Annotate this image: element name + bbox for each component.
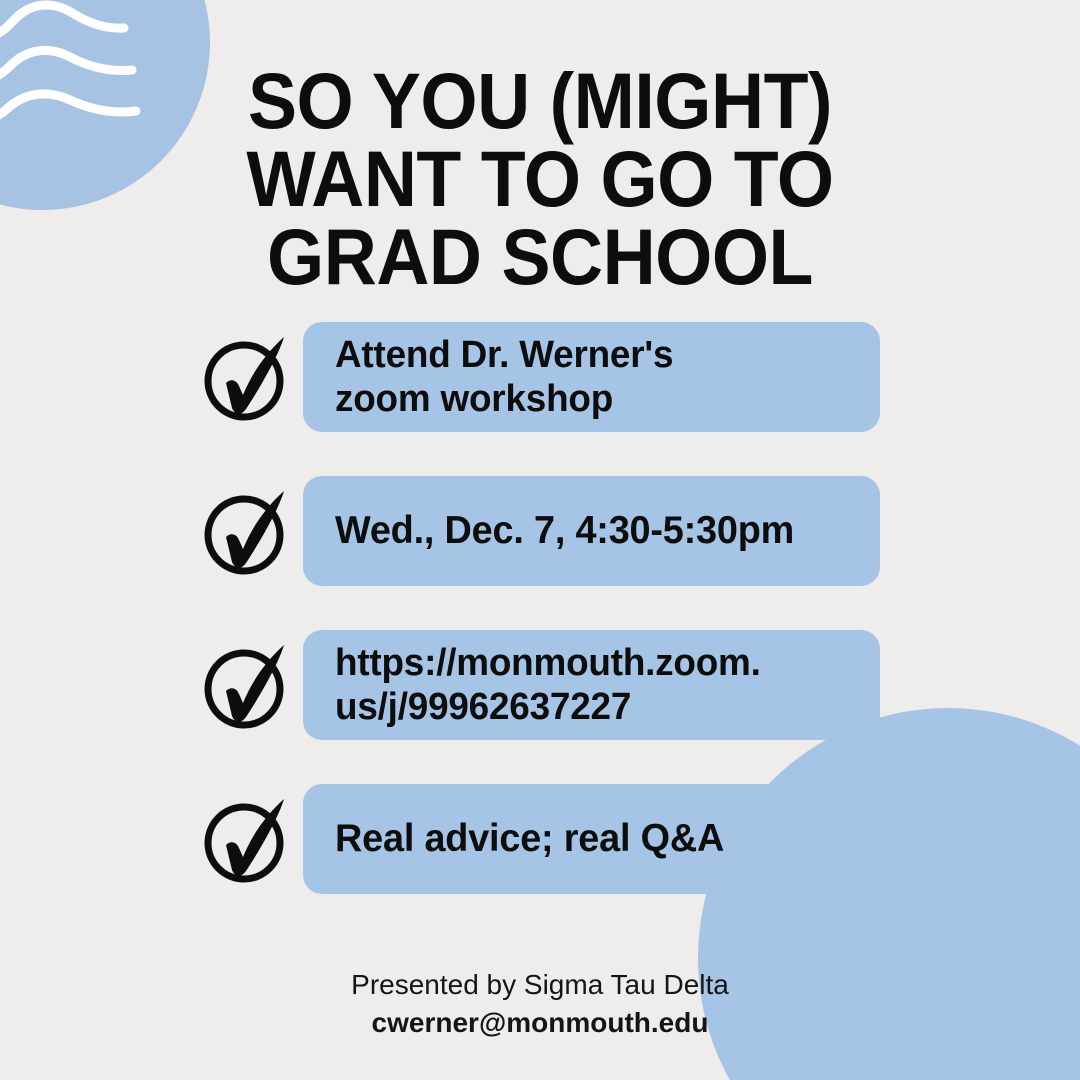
circled-checkmark-icon [200,329,296,425]
checklist-item: Attend Dr. Werner's zoom workshop [0,322,1080,432]
title-line-3: GRAD SCHOOL [159,218,922,296]
checklist-item-text-line: https://monmouth.zoom. [335,641,761,685]
checklist-item-text: Attend Dr. Werner's zoom workshop [335,333,673,421]
presented-by-text: Presented by Sigma Tau Delta [0,966,1080,1004]
checklist-item-text-line: Wed., Dec. 7, 4:30-5:30pm [335,508,794,553]
checklist-item-box: Wed., Dec. 7, 4:30-5:30pm [303,476,880,586]
title-line-1: SO YOU (MIGHT) [159,62,922,140]
poster-title: SO YOU (MIGHT) WANT TO GO TO GRAD SCHOOL [159,62,922,297]
checklist-item: Real advice; real Q&A [0,784,1080,894]
checklist-item-text-line: us/j/99962637227 [335,685,761,729]
poster-canvas: SO YOU (MIGHT) WANT TO GO TO GRAD SCHOOL… [0,0,1080,1080]
checklist-item-text-line: zoom workshop [335,377,673,421]
title-line-2: WANT TO GO TO [159,140,922,218]
checklist-item-text-line: Real advice; real Q&A [335,816,724,861]
checklist-item-box: Real advice; real Q&A [303,784,880,894]
checklist: Attend Dr. Werner's zoom workshop Wed., … [0,322,1080,938]
checklist-item: https://monmouth.zoom. us/j/99962637227 [0,630,1080,740]
checklist-item-text: Wed., Dec. 7, 4:30-5:30pm [335,508,794,553]
circled-checkmark-icon [200,483,296,579]
circled-checkmark-icon [200,637,296,733]
checklist-item-text: Real advice; real Q&A [335,816,724,861]
checklist-item-box: Attend Dr. Werner's zoom workshop [303,322,880,432]
contact-email: cwerner@monmouth.edu [0,1004,1080,1042]
checklist-item-box: https://monmouth.zoom. us/j/99962637227 [303,630,880,740]
circled-checkmark-icon [200,791,296,887]
checklist-item-text-line: Attend Dr. Werner's [335,333,673,377]
checklist-item-text: https://monmouth.zoom. us/j/99962637227 [335,641,761,729]
checklist-item: Wed., Dec. 7, 4:30-5:30pm [0,476,1080,586]
footer: Presented by Sigma Tau Delta cwerner@mon… [0,966,1080,1042]
